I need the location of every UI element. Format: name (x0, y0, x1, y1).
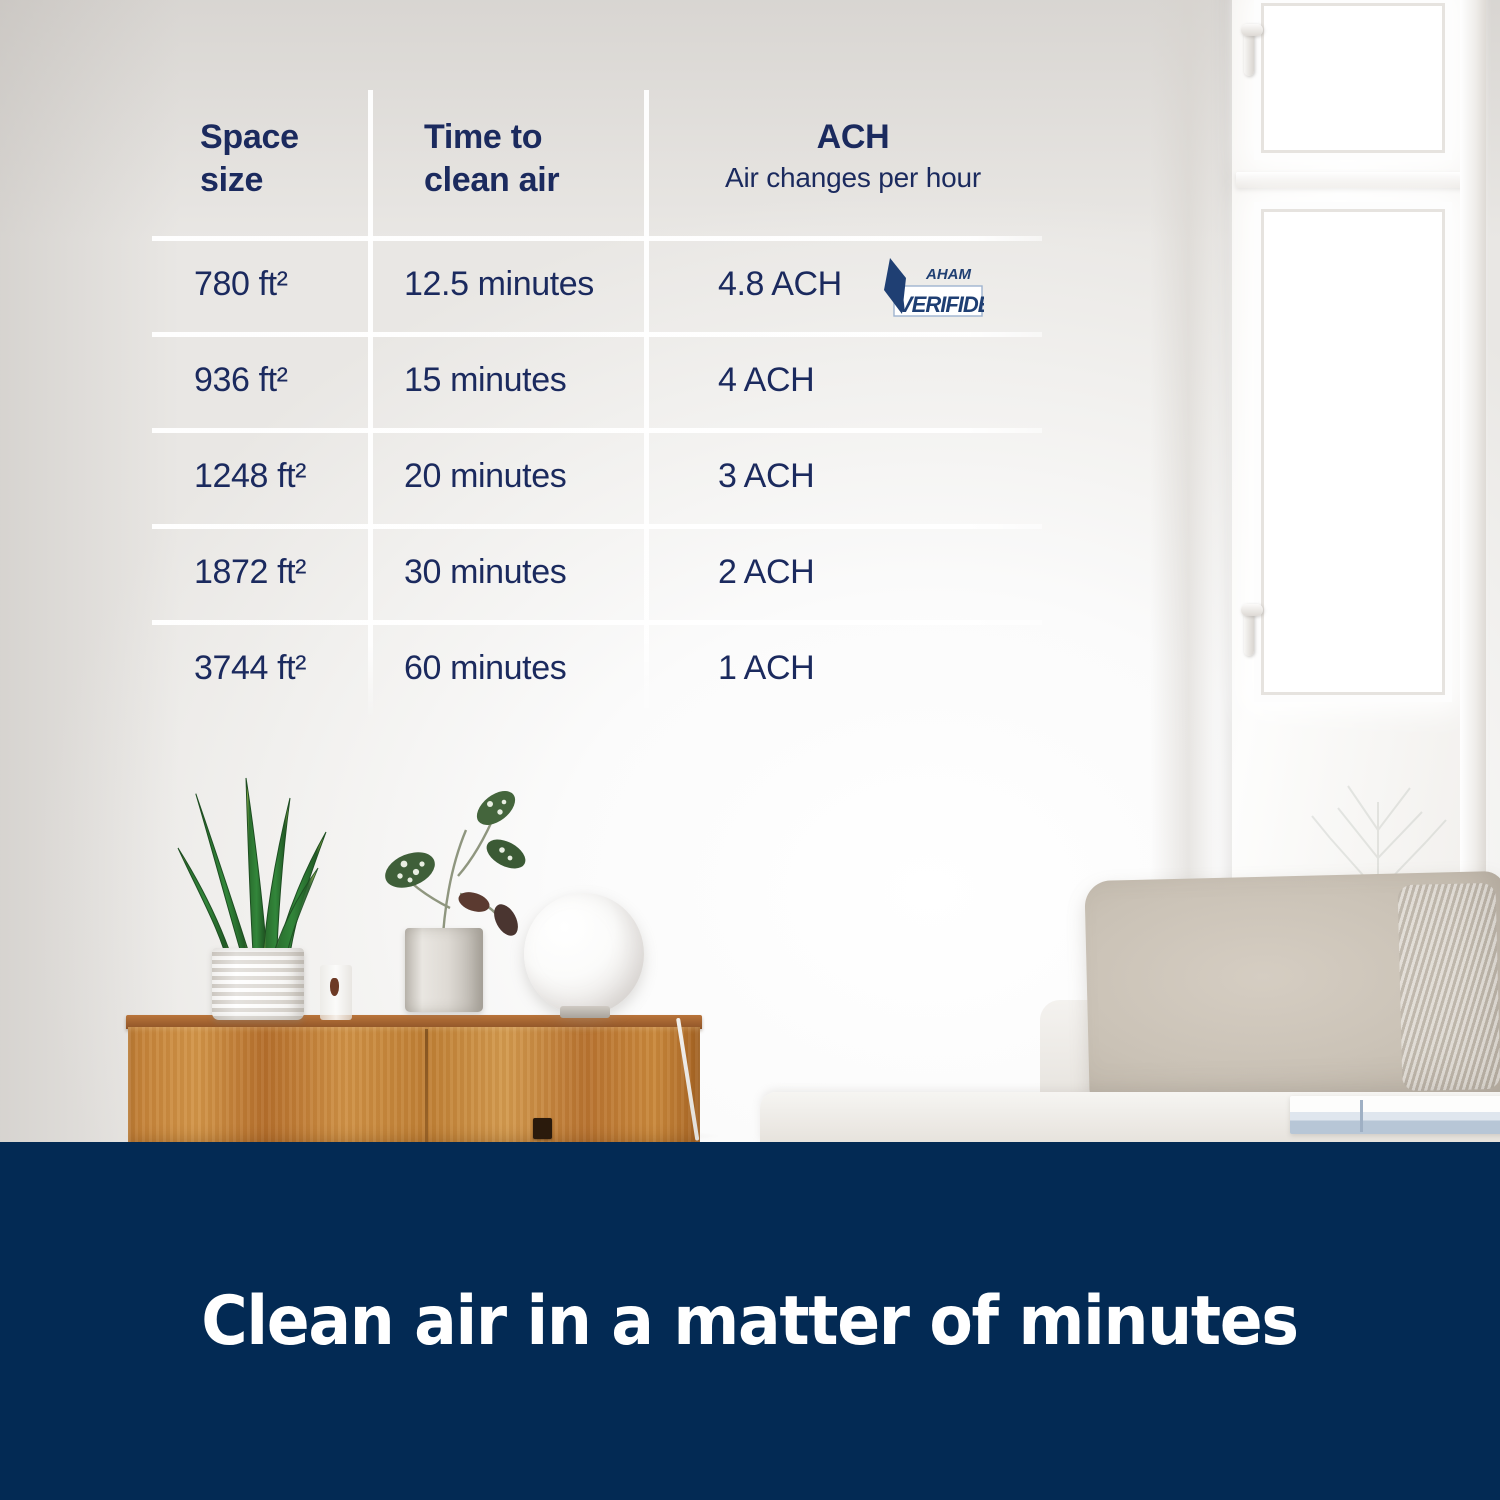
cell-time: 12.5 minutes (404, 236, 594, 332)
header-space-line2: size (200, 159, 360, 202)
specs-table: Space size Time to clean air ACH Air cha… (152, 88, 1042, 720)
cell-space-size: 936 ft² (194, 332, 288, 428)
table-header-row: Space size Time to clean air ACH Air cha… (152, 88, 1042, 236)
cell-space-size: 1872 ft² (194, 524, 306, 620)
window-handle-lower[interactable] (1244, 610, 1254, 656)
cell-space-size: 780 ft² (194, 236, 288, 332)
lamp-base (560, 1006, 610, 1018)
cushion-seam (1397, 883, 1500, 1091)
header-time-to-clean-air: Time to clean air (424, 116, 624, 201)
table-row: 1872 ft² 30 minutes 2 ACH (152, 524, 1042, 620)
cell-space-size: 3744 ft² (194, 620, 306, 716)
window-pane-lower (1254, 202, 1452, 702)
header-ach-line1: ACH (668, 116, 1038, 159)
cell-ach: 4 ACH (718, 332, 814, 428)
cell-ach: 2 ACH (718, 524, 814, 620)
cell-ach: 1 ACH (718, 620, 814, 716)
cell-ach: 4.8 ACH (718, 236, 842, 332)
header-time-line2: clean air (424, 159, 624, 202)
bottom-banner: Clean air in a matter of minutes (0, 1142, 1500, 1500)
window-jamb (1460, 0, 1486, 970)
cell-time: 60 minutes (404, 620, 566, 716)
globe-lamp (524, 893, 644, 1015)
cell-time: 15 minutes (404, 332, 566, 428)
header-space-size: Space size (200, 116, 360, 201)
product-infographic: Space size Time to clean air ACH Air cha… (0, 0, 1500, 1500)
table-row: 936 ft² 15 minutes 4 ACH (152, 332, 1042, 428)
credenza-handle[interactable] (533, 1118, 552, 1139)
cell-time: 20 minutes (404, 428, 566, 524)
vase-contents (330, 978, 339, 996)
begonia-concrete-pot (405, 928, 483, 1012)
aham-top-text: AHAM (925, 266, 971, 283)
book-spine-line (1360, 1100, 1363, 1132)
cell-ach: 3 ACH (718, 428, 814, 524)
cell-space-size: 1248 ft² (194, 428, 306, 524)
aham-bottom-text: VERIFIDE (898, 292, 984, 317)
header-time-line1: Time to (424, 116, 624, 159)
table-row: 780 ft² 12.5 minutes 4.8 ACH AHAM VERIFI… (152, 236, 1042, 332)
wooden-credenza (128, 1015, 700, 1142)
credenza-door-seam (425, 1029, 428, 1142)
window-mullion (1236, 172, 1474, 188)
credenza-front (128, 1027, 700, 1142)
books-stack (1290, 1096, 1500, 1134)
window-pane-upper (1254, 0, 1452, 160)
header-space-line1: Space (200, 116, 360, 159)
window (1232, 0, 1480, 970)
header-ach-subtitle: Air changes per hour (668, 161, 1038, 195)
banner-headline: Clean air in a matter of minutes (202, 1282, 1298, 1361)
snake-plant-pot (212, 948, 304, 1020)
header-ach: ACH Air changes per hour (668, 116, 1038, 194)
table-row: 1248 ft² 20 minutes 3 ACH (152, 428, 1042, 524)
window-handle-upper[interactable] (1244, 30, 1254, 76)
aham-verifide-logo: AHAM VERIFIDE (882, 256, 984, 318)
table-row: 3744 ft² 60 minutes 1 ACH (152, 620, 1042, 716)
cell-time: 30 minutes (404, 524, 566, 620)
